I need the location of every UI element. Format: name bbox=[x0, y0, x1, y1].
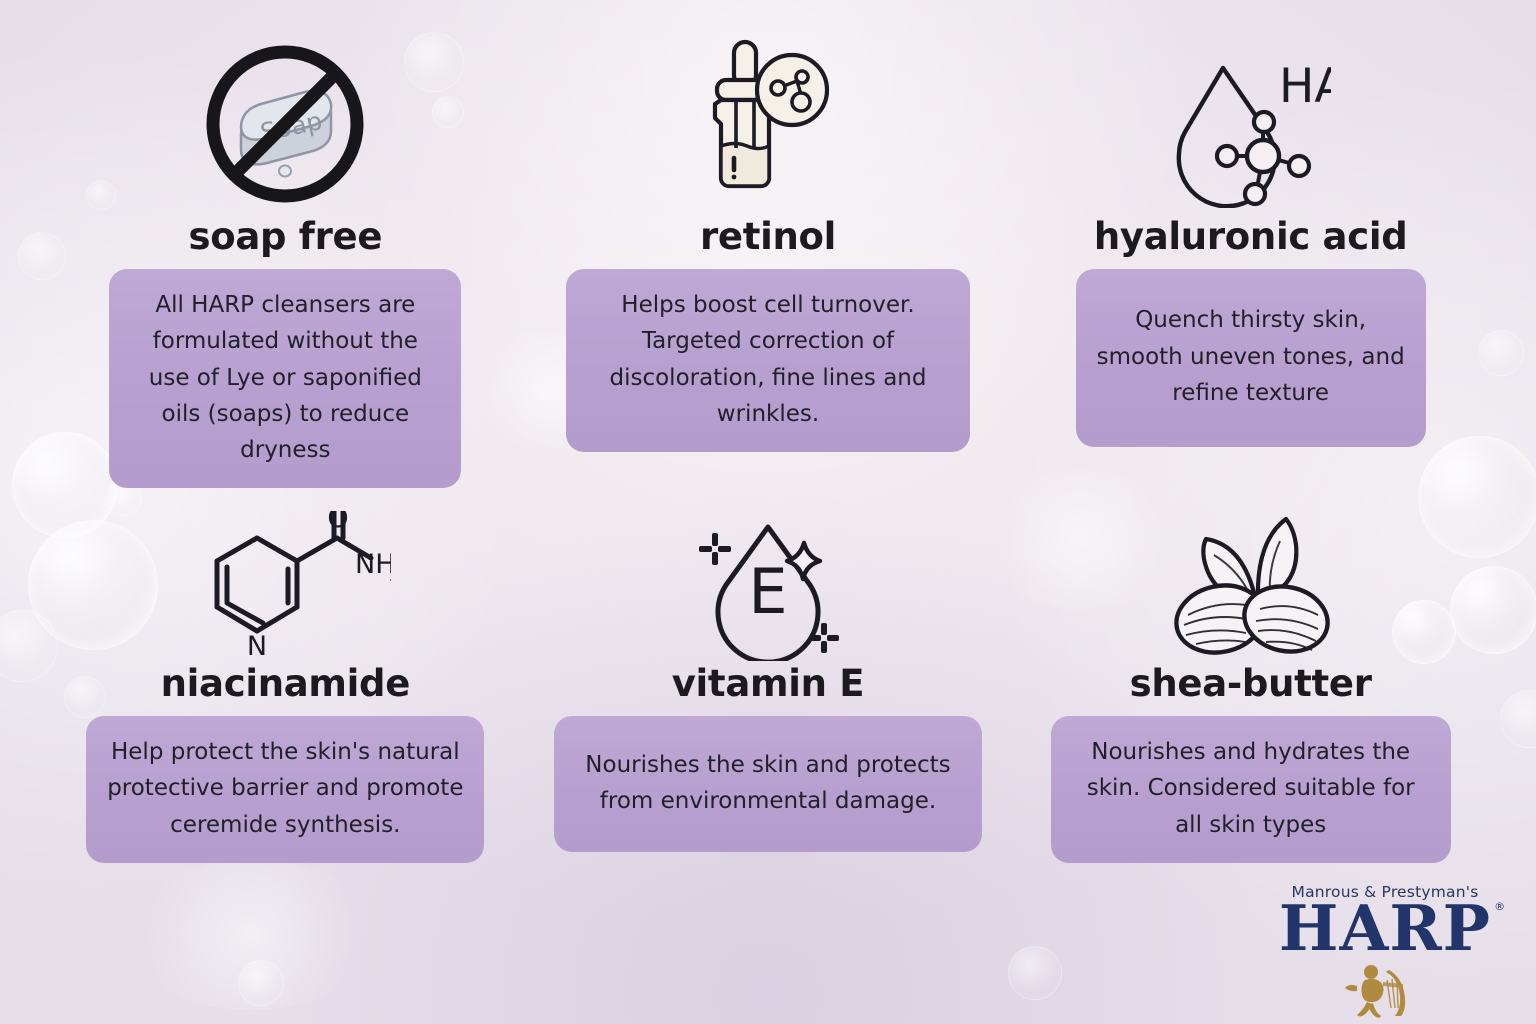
icon-container: E bbox=[692, 491, 844, 661]
card-description: Quench thirsty skin, smooth uneven tones… bbox=[1096, 302, 1406, 411]
nitrogen-label: N bbox=[247, 631, 267, 661]
card-soap-free: Soap soap free All HARP cleansers are fo… bbox=[44, 18, 527, 491]
no-soap-icon: Soap bbox=[201, 40, 369, 208]
water-drop-sparkle-icon: E bbox=[692, 515, 844, 661]
card-title: hyaluronic acid bbox=[1094, 218, 1408, 257]
card-description: Nourishes and hydrates the skin. Conside… bbox=[1071, 734, 1431, 843]
card-description-box: Quench thirsty skin, smooth uneven tones… bbox=[1076, 269, 1426, 447]
card-vitamin-e: E vitamin E bbox=[527, 491, 1010, 964]
oxygen-label: O bbox=[328, 511, 349, 534]
shea-nuts-leaves-icon bbox=[1162, 511, 1340, 661]
card-title: soap free bbox=[189, 218, 383, 257]
logo-wordmark: HARP ® bbox=[1279, 897, 1491, 960]
icon-container: HA bbox=[1171, 18, 1331, 208]
card-description: Help protect the skin's natural protecti… bbox=[106, 734, 464, 843]
card-title: retinol bbox=[700, 218, 836, 257]
card-description-box: Helps boost cell turnover. Targeted corr… bbox=[566, 269, 970, 452]
card-description-box: Help protect the skin's natural protecti… bbox=[86, 716, 484, 863]
card-hyaluronic-acid: HA hyaluronic acid Quench thirsty bbox=[1009, 18, 1492, 491]
card-description: Helps boost cell turnover. Targeted corr… bbox=[586, 287, 950, 432]
icon-container bbox=[703, 18, 833, 208]
bottle-fill bbox=[721, 144, 769, 187]
card-description-box: All HARP cleansers are formulated withou… bbox=[109, 269, 461, 489]
card-description: Nourishes the skin and protects from env… bbox=[574, 747, 962, 820]
sparkle-star-icon bbox=[787, 543, 820, 579]
registered-trademark-icon: ® bbox=[1494, 901, 1506, 912]
logo-mark-container bbox=[1260, 962, 1510, 1018]
icon-container bbox=[1162, 491, 1340, 661]
sparkle-cross-icon bbox=[699, 533, 731, 565]
card-retinol: retinol Helps boost cell turnover. Targe… bbox=[527, 18, 1010, 491]
card-description-box: Nourishes the skin and protects from env… bbox=[554, 716, 982, 852]
ha-label: HA bbox=[1279, 59, 1331, 114]
cherub-with-harp-icon bbox=[1337, 962, 1433, 1018]
card-title: niacinamide bbox=[161, 665, 410, 704]
infographic-poster: Soap soap free All HARP cleansers are fo… bbox=[0, 0, 1536, 1024]
card-title: shea-butter bbox=[1130, 665, 1372, 704]
icon-container: O N NH 2 bbox=[179, 491, 391, 661]
amine-label: NH bbox=[355, 549, 391, 580]
card-title: vitamin E bbox=[672, 665, 865, 704]
dropper-bottle-molecule-icon bbox=[703, 36, 833, 208]
logo-brand-text: HARP bbox=[1279, 891, 1491, 965]
card-description: All HARP cleansers are formulated withou… bbox=[129, 287, 441, 469]
brand-logo: Manrous & Prestyman's HARP ® bbox=[1260, 883, 1510, 1018]
water-drop-molecule-icon: HA bbox=[1171, 56, 1331, 208]
vitamin-e-label: E bbox=[748, 555, 787, 628]
niacinamide-molecule-icon: O N NH 2 bbox=[179, 511, 391, 661]
amine-subscript: 2 bbox=[389, 564, 391, 586]
ingredient-grid: Soap soap free All HARP cleansers are fo… bbox=[0, 0, 1536, 1024]
icon-container: Soap bbox=[201, 18, 369, 208]
card-niacinamide: O N NH 2 niacinamide Help protect the sk… bbox=[44, 491, 527, 964]
card-description-box: Nourishes and hydrates the skin. Conside… bbox=[1051, 716, 1451, 863]
